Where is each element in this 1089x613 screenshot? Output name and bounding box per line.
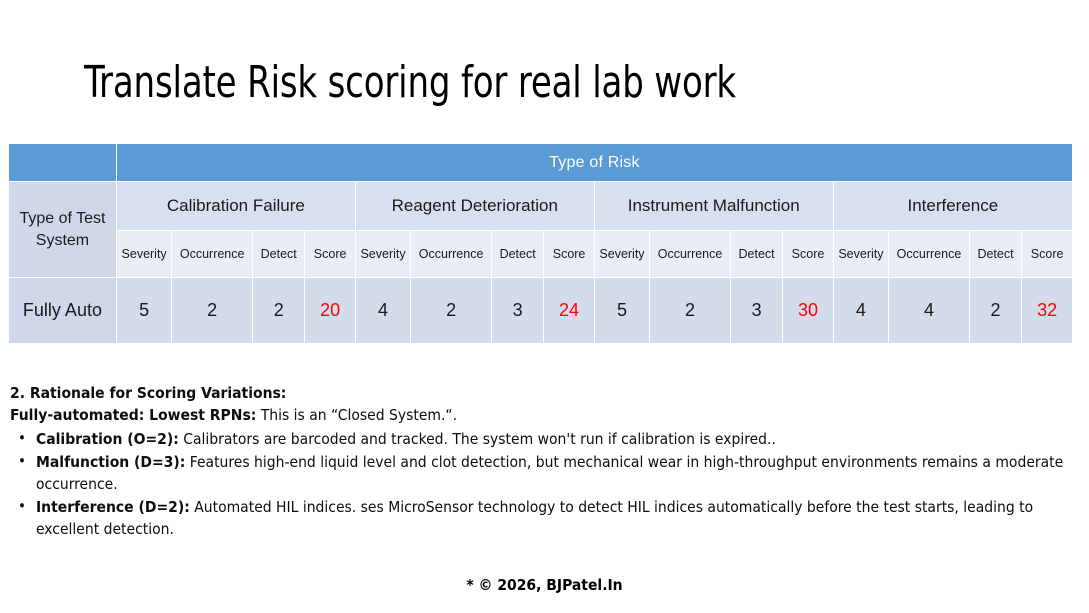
subheader-calibration-severity: Severity (116, 231, 171, 278)
bullet-label-interference: Interference (D=2): (36, 498, 190, 516)
rationale-subheading: Fully-automated: Lowest RPNs: This is an… (10, 404, 1078, 426)
cell-reagent-detect: 3 (491, 278, 543, 344)
cell-interference-detect: 2 (969, 278, 1021, 344)
table-header-row-top: Type of Risk (9, 144, 1073, 182)
copyright-footer: * © 2026, BJPatel.In (0, 576, 1089, 594)
subheader-calibration-detect: Detect (253, 231, 305, 278)
list-item: • Malfunction (D=3): Features high-end l… (10, 451, 1078, 495)
list-item: • Calibration (O=2): Calibrators are bar… (10, 428, 1078, 450)
bullet-text-malfunction: Features high-end liquid level and clot … (36, 453, 1063, 493)
group-header-reagent-deterioration: Reagent Deterioration (355, 182, 594, 231)
subheader-interference-severity: Severity (833, 231, 888, 278)
bullet-label-malfunction: Malfunction (D=3): (36, 453, 185, 471)
group-header-instrument-malfunction: Instrument Malfunction (594, 182, 833, 231)
cell-instrument-score: 30 (783, 278, 833, 344)
cell-instrument-severity: 5 (594, 278, 649, 344)
bullet-dot-icon: • (18, 451, 26, 472)
subheader-instrument-detect: Detect (730, 231, 782, 278)
rationale-section: 2. Rationale for Scoring Variations: Ful… (10, 382, 1078, 541)
cell-interference-score: 32 (1022, 278, 1073, 344)
subheader-instrument-severity: Severity (594, 231, 649, 278)
table-header-row-sub: Severity Occurrence Detect Score Severit… (9, 231, 1073, 278)
subheader-reagent-severity: Severity (355, 231, 410, 278)
cell-instrument-occurrence: 2 (650, 278, 731, 344)
subheader-instrument-score: Score (783, 231, 833, 278)
header-type-of-risk: Type of Risk (116, 144, 1072, 182)
bullet-text-calibration: Calibrators are barcoded and tracked. Th… (179, 430, 776, 448)
cell-interference-severity: 4 (833, 278, 888, 344)
subheader-calibration-score: Score (305, 231, 355, 278)
list-item: • Interference (D=2): Automated HIL indi… (10, 496, 1078, 540)
group-header-interference: Interference (833, 182, 1072, 231)
subheader-instrument-occurrence: Occurrence (650, 231, 731, 278)
rationale-heading: 2. Rationale for Scoring Variations: (10, 382, 1078, 404)
cell-calibration-detect: 2 (253, 278, 305, 344)
cell-interference-occurrence: 4 (889, 278, 970, 344)
subheader-interference-score: Score (1022, 231, 1073, 278)
cell-calibration-score: 20 (305, 278, 355, 344)
bullet-dot-icon: • (18, 496, 26, 517)
cell-instrument-detect: 3 (730, 278, 782, 344)
subheader-calibration-occurrence: Occurrence (172, 231, 253, 278)
cell-calibration-occurrence: 2 (172, 278, 253, 344)
subheader-interference-occurrence: Occurrence (889, 231, 970, 278)
rationale-subheading-rest: This is an “Closed System.“. (256, 406, 457, 424)
cell-calibration-severity: 5 (116, 278, 171, 344)
risk-scoring-table: Type of Risk Type of Test System Calibra… (8, 143, 1073, 344)
subheader-reagent-detect: Detect (491, 231, 543, 278)
bullet-dot-icon: • (18, 428, 26, 449)
header-type-of-test-system: Type of Test System (9, 182, 117, 278)
cell-reagent-score: 24 (544, 278, 594, 344)
table-header-row-groups: Type of Test System Calibration Failure … (9, 182, 1073, 231)
risk-table-container: Type of Risk Type of Test System Calibra… (8, 143, 1073, 344)
subheader-interference-detect: Detect (969, 231, 1021, 278)
group-header-calibration-failure: Calibration Failure (116, 182, 355, 231)
subheader-reagent-occurrence: Occurrence (411, 231, 492, 278)
rationale-subheading-bold: Fully-automated: Lowest RPNs: (10, 406, 256, 424)
cell-reagent-occurrence: 2 (411, 278, 492, 344)
page-title: Translate Risk scoring for real lab work (84, 58, 736, 109)
header-corner-blank (9, 144, 117, 182)
bullet-label-calibration: Calibration (O=2): (36, 430, 179, 448)
subheader-reagent-score: Score (544, 231, 594, 278)
table-row: Fully Auto 5 2 2 20 4 2 3 24 5 2 3 30 4 … (9, 278, 1073, 344)
cell-reagent-severity: 4 (355, 278, 410, 344)
rationale-bullet-list: • Calibration (O=2): Calibrators are bar… (10, 428, 1078, 540)
row-label-fully-auto: Fully Auto (9, 278, 117, 344)
